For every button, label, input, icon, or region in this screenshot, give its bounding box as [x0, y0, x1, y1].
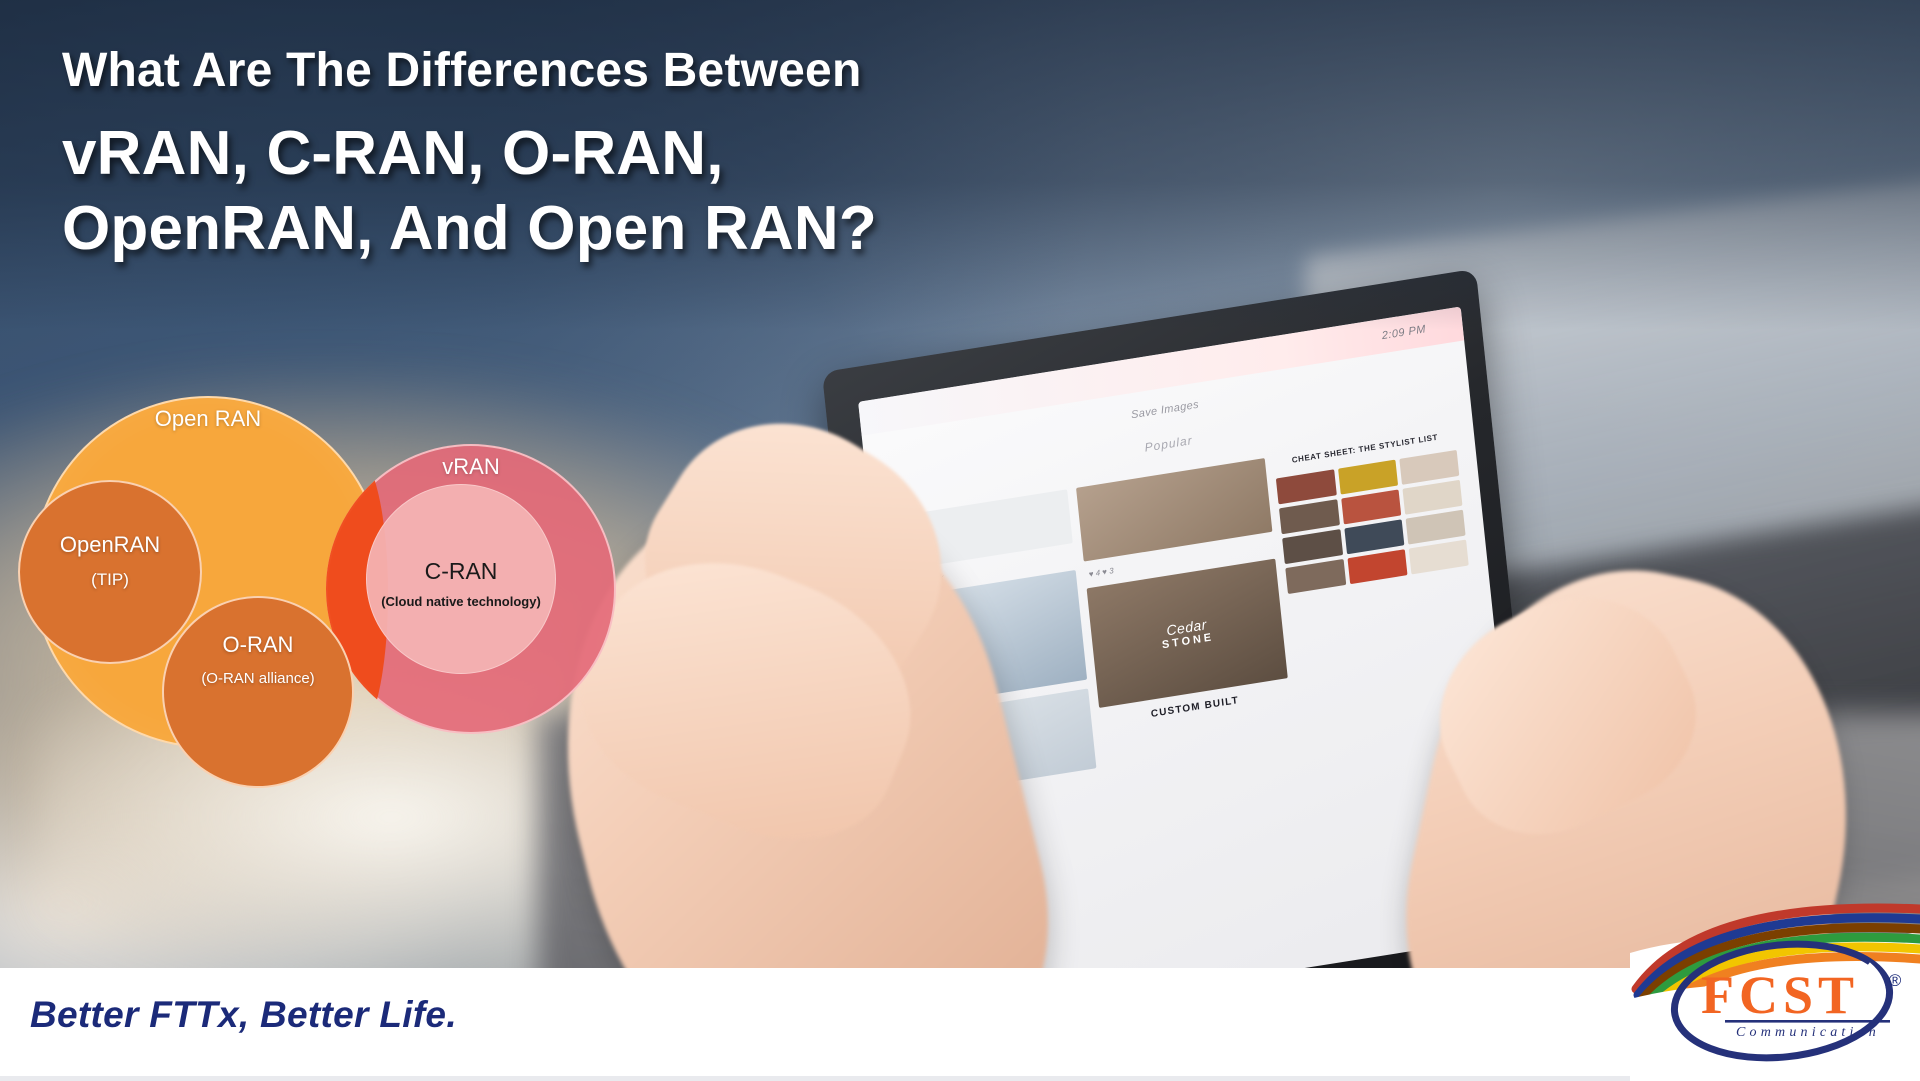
- tablet-card-cedar: Cedar STONE: [1087, 559, 1289, 708]
- title-line-2b: OpenRAN, And Open RAN?: [62, 191, 1242, 267]
- venn-label-cran: C-RAN: [366, 558, 556, 585]
- fcst-logo: FCST ® Communication: [1630, 881, 1920, 1081]
- venn-label-open-ran: Open RAN: [32, 406, 384, 432]
- tablet-thumbnail: [1283, 529, 1343, 564]
- tablet-thumbnail-grid: [1277, 450, 1470, 594]
- tablet-thumbnail: [1400, 450, 1460, 485]
- tablet-thumbnail: [1341, 490, 1401, 525]
- page-title: What Are The Differences Between vRAN, C…: [62, 44, 1242, 267]
- venn-label-openran: OpenRAN: [18, 532, 202, 558]
- tablet-thumbnail: [1277, 469, 1337, 504]
- svg-text:Communication: Communication: [1736, 1025, 1880, 1040]
- venn-sublabel-oran: (O-RAN alliance): [162, 670, 354, 687]
- tablet-column-mid: ♥ 4 ♥ 3 Cedar STONE CUSTOM BUILT: [1076, 458, 1317, 983]
- tablet-thumbnail: [1338, 460, 1398, 495]
- venn-label-oran: O-RAN: [162, 632, 354, 658]
- tablet-popular-label: Popular: [1144, 433, 1193, 455]
- tablet-thumbnail: [1406, 510, 1466, 545]
- tablet-thumbnail: [1403, 480, 1463, 515]
- svg-text:®: ®: [1889, 971, 1902, 990]
- tablet-thumbnail: [1280, 499, 1340, 534]
- tablet-thumbnail: [1348, 549, 1408, 584]
- tablet-thumbnail: [1286, 559, 1346, 594]
- title-line-1: What Are The Differences Between: [62, 44, 1242, 98]
- svg-text:FCST: FCST: [1701, 965, 1859, 1025]
- tablet-thumbnail: [1344, 519, 1404, 554]
- tablet-thumbnail: [1409, 540, 1469, 575]
- title-line-2: vRAN, C-RAN, O-RAN, OpenRAN, And Open RA…: [62, 116, 1242, 267]
- venn-sublabel-openran: (TIP): [18, 570, 202, 590]
- venn-circle-oran: [162, 596, 354, 788]
- venn-label-vran: vRAN: [326, 454, 616, 480]
- title-line-2a: vRAN, C-RAN, O-RAN,: [62, 116, 1242, 192]
- tablet-save-images-label: Save Images: [1131, 399, 1200, 422]
- venn-sublabel-cran: (Cloud native technology): [356, 594, 566, 609]
- venn-diagram: Open RAN vRAN OpenRAN (TIP) O-RAN (O-RAN…: [8, 388, 648, 868]
- footer-tagline: Better FTTx, Better Life.: [30, 994, 457, 1036]
